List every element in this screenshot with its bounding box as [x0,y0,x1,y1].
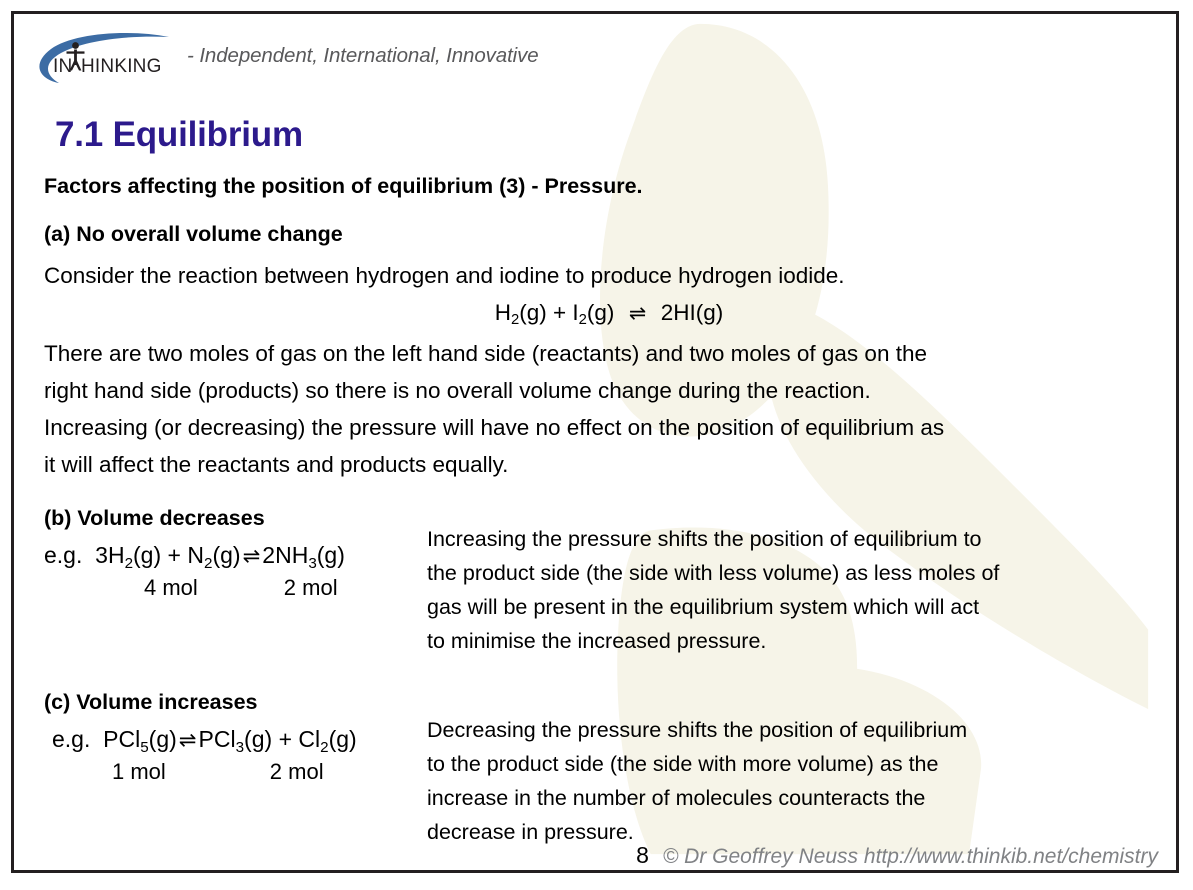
logo-word-thinking: HINKING [81,56,162,77]
eq-nh3-nh3-symbol: 2NH [262,542,308,568]
eq-hi-i-symbol: I [572,300,578,325]
eq-hi-hi-state: (g) [696,300,724,325]
brand-tagline: - Independent, International, Innovative [187,44,539,70]
eq-cl2-state: (g) [329,726,357,752]
eq-hi-plus: + [553,300,566,325]
page-number: 8 [636,842,649,869]
eq-pcl3-state: (g) [244,726,272,752]
section-a-line-4: it will affect the reactants and product… [44,446,1164,483]
eq-pcl5-prefix: e.g. [52,726,90,752]
eq-nh3-p1: 2NH3(g) [262,542,345,568]
eq-nh3-n-state: (g) [212,542,240,568]
section-c-expl-line-3: increase in the number of molecules coun… [427,781,1147,815]
eq-cl2-subscript: 2 [320,739,328,756]
slide-footer: 8 © Dr Geoffrey Neuss http://www.thinkib… [14,842,1176,869]
section-c-left-column: (c) Volume increases e.g. PCl5(g)⇌PCl3(g… [44,690,434,785]
eq-hi-lhs1: H2(g) [495,300,547,325]
section-a-line-3: Increasing (or decreasing) the pressure … [44,409,1164,446]
eq-hi-i-subscript: 2 [579,312,587,328]
eq-nh3-h-subscript: 2 [125,555,133,572]
eq-hi-h-subscript: 2 [511,312,519,328]
section-b-mole-ratio: 4 mol2 mol [44,575,434,601]
section-b-expl-line-2: the product side (the side with less vol… [427,556,1147,590]
eq-nh3-prefix: e.g. [44,542,82,568]
equation-pcl5: e.g. PCl5(g)⇌PCl3(g) + Cl2(g) [44,726,434,753]
section-b-left-column: (b) Volume decreases e.g. 3H2(g) + N2(g)… [44,506,434,601]
eq-nh3-n-symbol: N [187,542,204,568]
section-b-moles-right: 2 mol [284,575,338,600]
section-c-mole-ratio: 1 mol2 mol [44,759,434,785]
eq-nh3-r1: 3H2(g) [95,542,161,568]
eq-pcl5-subscript: 5 [140,739,148,756]
eq-nh3-nh3-subscript: 3 [308,555,316,572]
section-a-line-1: There are two moles of gas on the left h… [44,335,1164,372]
section-a-body: Consider the reaction between hydrogen a… [44,257,1164,483]
equilibrium-arrow-icon: ⇌ [627,302,648,325]
equation-ammonia: e.g. 3H2(g) + N2(g)⇌2NH3(g) [44,542,434,569]
section-a-line-2: right hand side (products) so there is n… [44,372,1164,409]
eq-nh3-r2: N2(g) [187,542,240,568]
section-b-expl-line-3: gas will be present in the equilibrium s… [427,590,1147,624]
equilibrium-arrow-icon: ⇌ [241,545,263,568]
page-title: 7.1 Equilibrium [55,115,303,155]
eq-pcl3-symbol: PCl [199,726,236,752]
eq-nh3-h-state: (g) [133,542,161,568]
section-b-expl-line-1: Increasing the pressure shifts the posit… [427,522,1147,556]
section-c-moles-right: 2 mol [270,759,324,784]
equilibrium-arrow-icon: ⇌ [177,729,199,752]
eq-pcl5-plus: + [279,726,292,752]
section-c-expl-line-2: to the product side (the side with more … [427,747,1147,781]
eq-nh3-h-symbol: 3H [95,542,124,568]
header: IN HINKING - Independent, International,… [33,28,539,86]
copyright-notice[interactable]: © Dr Geoffrey Neuss http://www.thinkib.n… [663,845,1158,869]
section-c-moles-left: 1 mol [112,759,166,784]
page-subtitle: Factors affecting the position of equili… [44,174,643,199]
eq-cl2: Cl2(g) [298,726,356,752]
slide-content: IN HINKING - Independent, International,… [14,14,1176,870]
eq-nh3-plus: + [168,542,181,568]
eq-nh3-nh3-state: (g) [317,542,345,568]
equation-hi: H2(g) + I2(g) ⇌ 2HI(g) [44,294,1164,335]
section-a-heading: (a) No overall volume change [44,222,343,247]
section-b-heading: (b) Volume decreases [44,506,434,531]
eq-pcl5-r1: PCl5(g) [103,726,177,752]
section-b-expl-line-4: to minimise the increased pressure. [427,624,1147,658]
eq-hi-lhs2: I2(g) [572,300,614,325]
eq-pcl3-subscript: 3 [236,739,244,756]
eq-pcl3: PCl3(g) [199,726,273,752]
section-c-expl-line-1: Decreasing the pressure shifts the posit… [427,713,1147,747]
eq-cl2-symbol: Cl [298,726,320,752]
inthinking-logo[interactable]: IN HINKING [33,31,181,83]
eq-pcl5-symbol: PCl [103,726,140,752]
eq-hi-hi-symbol: 2HI [661,300,696,325]
slide-frame: IN HINKING - Independent, International,… [11,11,1179,873]
eq-nh3-n-subscript: 2 [204,555,212,572]
section-b-explanation: Increasing the pressure shifts the posit… [427,522,1147,658]
eq-hi-h-symbol: H [495,300,511,325]
eq-hi-rhs: 2HI(g) [661,300,724,325]
eq-hi-i-state: (g) [587,300,615,325]
section-c-explanation: Decreasing the pressure shifts the posit… [427,713,1147,849]
logo-wordmark: IN HINKING [33,53,181,79]
logo-word-in: IN [53,56,72,77]
section-a-intro: Consider the reaction between hydrogen a… [44,257,1164,294]
eq-pcl5-state: (g) [149,726,177,752]
section-c-heading: (c) Volume increases [44,690,434,715]
eq-hi-h-state: (g) [519,300,547,325]
section-b-moles-left: 4 mol [144,575,198,600]
